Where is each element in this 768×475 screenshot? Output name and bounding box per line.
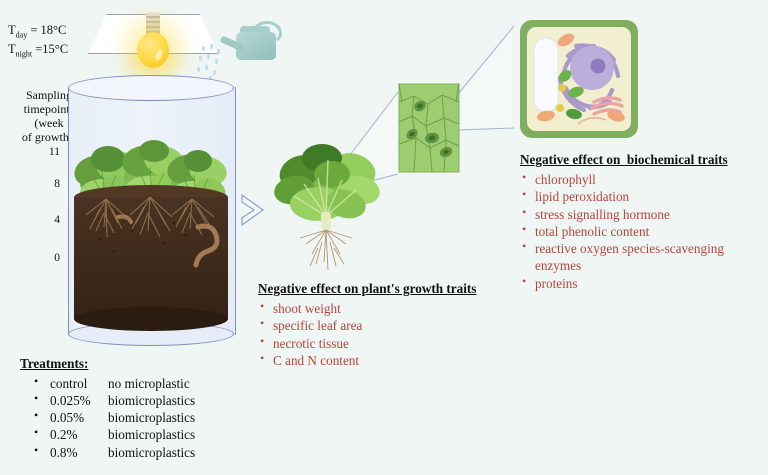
list-item: 0.2%biomicroplastics (20, 426, 250, 443)
list-item: specific leaf area (258, 317, 510, 334)
list-item: chlorophyll (520, 171, 768, 188)
treatment-dose: 0.2% (50, 426, 108, 443)
list-item: necrotic tissue (258, 335, 510, 352)
night-temperature: Tnight =15°C (8, 41, 68, 60)
day-temperature: Tday = 18°C (8, 22, 68, 41)
earthworm-icons (118, 217, 217, 265)
list-item: shoot weight (258, 300, 510, 317)
day-temp-symbol: T (8, 23, 16, 37)
soil-substrate (74, 185, 228, 333)
list-item: 0.025%biomicroplastics (20, 392, 250, 409)
treatment-material: biomicroplastics (108, 427, 195, 442)
treatment-material: no microplastic (108, 376, 190, 391)
treatment-dose: control (50, 375, 108, 392)
treatment-dose: 0.05% (50, 409, 108, 426)
list-item: proteins (520, 275, 768, 292)
soil-base (74, 307, 228, 331)
list-item: 0.05%biomicroplastics (20, 409, 250, 426)
treatments-panel: Treatments: controlno microplastic 0.025… (20, 356, 250, 461)
list-item: 0.8%biomicroplastics (20, 444, 250, 461)
plant-stem (321, 212, 331, 230)
plant-roots (300, 230, 352, 270)
treatment-material: biomicroplastics (108, 445, 195, 460)
treatment-material: biomicroplastics (108, 393, 195, 408)
chamber-top-ellipse (68, 75, 234, 101)
temperature-conditions: Tday = 18°C Tnight =15°C (8, 22, 68, 61)
leaf-tissue-section (398, 82, 460, 174)
treatment-material: biomicroplastics (108, 410, 195, 425)
biochemical-traits-list: chlorophyll lipid peroxidation stress si… (520, 171, 768, 292)
biochemical-traits-panel: Negative effect on biochemical traits ch… (520, 152, 768, 292)
list-item-continuation: enzymes (520, 257, 768, 274)
treatment-dose: 0.025% (50, 392, 108, 409)
day-temp-subscript: day (16, 31, 28, 40)
root-system (86, 197, 214, 237)
treatment-dose: 0.8% (50, 444, 108, 461)
list-item: lipid peroxidation (520, 188, 768, 205)
treatments-list: controlno microplastic 0.025%biomicropla… (20, 375, 250, 461)
roots-and-earthworms (74, 193, 228, 273)
axis-tick-label-8: 8 (36, 178, 60, 190)
axis-tick-label-4: 4 (36, 214, 60, 226)
axis-tick-label-0: 0 (36, 252, 60, 264)
growth-traits-list: shoot weight specific leaf area necrotic… (258, 300, 510, 369)
growth-traits-heading: Negative effect on plant's growth traits (258, 281, 510, 297)
list-item: C and N content (258, 352, 510, 369)
treatments-heading: Treatments: (20, 356, 250, 372)
chevron-arrow (238, 192, 268, 228)
plant-cell (516, 16, 642, 142)
watering-can-icon (222, 20, 284, 72)
night-temp-value: =15°C (32, 42, 68, 56)
list-item: stress signalling hormone (520, 206, 768, 223)
list-item: controlno microplastic (20, 375, 250, 392)
list-item: reactive oxygen species-scavenging (520, 240, 768, 257)
night-temp-subscript: night (16, 50, 32, 59)
growth-traits-panel: Negative effect on plant's growth traits… (258, 281, 510, 369)
nucleolus (591, 59, 606, 74)
list-item: total phenolic content (520, 223, 768, 240)
night-temp-symbol: T (8, 42, 16, 56)
biochemical-traits-heading: Negative effect on biochemical traits (520, 152, 768, 168)
light-bulb-icon (137, 32, 169, 68)
growth-chamber-cylinder (68, 75, 236, 347)
axis-tick-label-11: 11 (36, 146, 60, 158)
harvested-lettuce-plant (272, 138, 384, 278)
vacuole (534, 38, 558, 112)
day-temp-value: = 18°C (27, 23, 66, 37)
figure-canvas: Tday = 18°C Tnight =15°C Sampling timepo… (0, 0, 768, 475)
